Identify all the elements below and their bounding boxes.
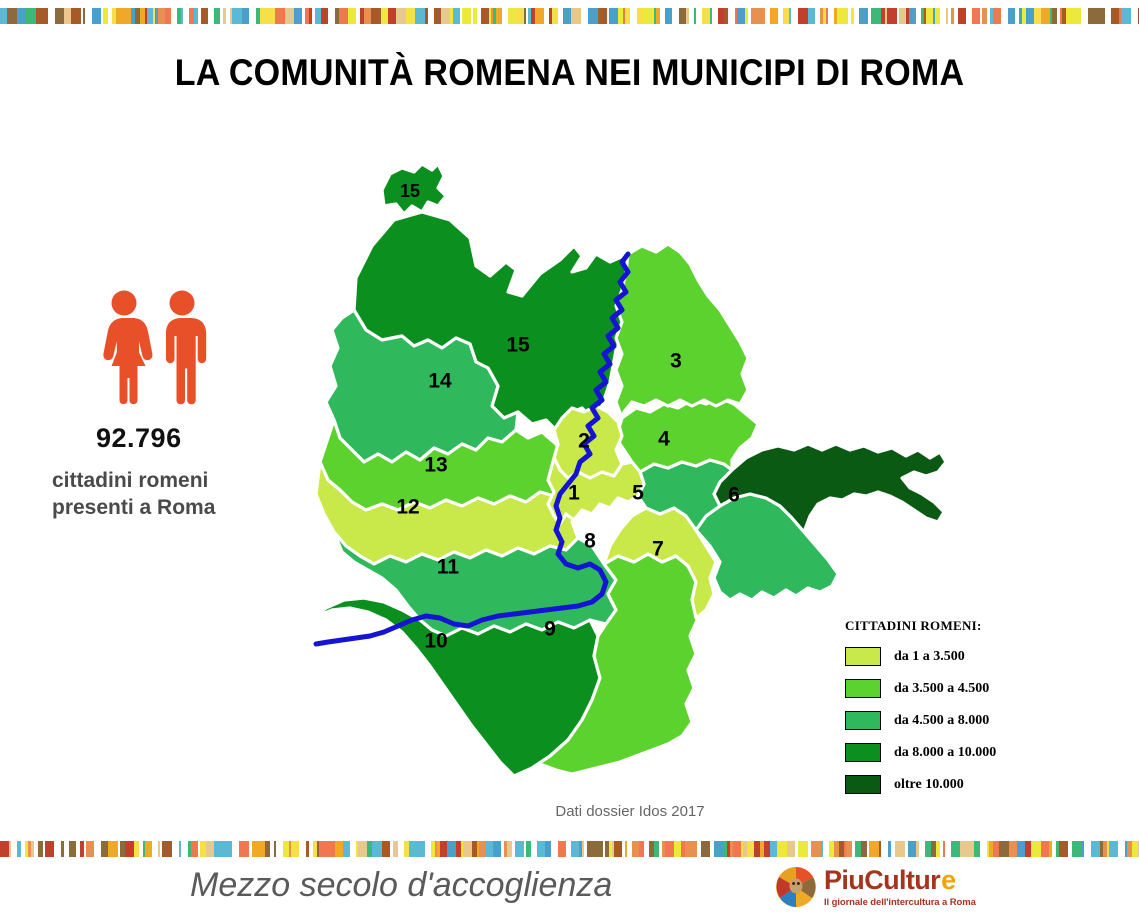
municipality-region-3[interactable] <box>616 244 748 418</box>
municipality-label-10: 10 <box>424 630 447 653</box>
municipality-label-5: 5 <box>632 482 644 505</box>
municipality-region-7[interactable] <box>696 494 838 600</box>
municipality-label-1: 1 <box>568 482 580 505</box>
map-legend: CITTADINI ROMENI: da 1 a 3.500da 3.500 a… <box>845 618 1125 807</box>
people-figures-icon-group <box>98 290 218 405</box>
decorative-stripe-bottom <box>0 841 1139 857</box>
legend-title: CITTADINI ROMENI: <box>845 618 1125 634</box>
female-figure-icon <box>103 291 152 405</box>
legend-swatch-3 <box>845 743 881 762</box>
stripe-pattern-bottom <box>0 841 1139 857</box>
brand-text-block: PiuCulture Il giornale dell'intercultura… <box>824 867 976 908</box>
page-title: LA COMUNITÀ ROMENA NEI MUNICIPI DI ROMA <box>46 52 1094 94</box>
stat-number: 92.796 <box>96 423 302 454</box>
legend-label-2: da 4.500 a 8.000 <box>894 713 989 729</box>
municipality-label-11: 11 <box>437 556 460 579</box>
legend-label-3: da 8.000 a 10.000 <box>894 745 996 761</box>
legend-rows: da 1 a 3.500da 3.500 a 4.500da 4.500 a 8… <box>845 647 1125 794</box>
brand-name-e-glyph: e <box>941 867 955 894</box>
stat-caption-line-2: presenti a Roma <box>52 495 302 522</box>
municipality-label-12: 12 <box>396 496 419 519</box>
legend-item-4[interactable]: oltre 10.000 <box>845 775 1125 794</box>
legend-label-0: da 1 a 3.500 <box>894 649 965 665</box>
source-note: Dati dossier Idos 2017 <box>310 803 950 820</box>
brand-name-main: PiuCultur <box>824 867 940 894</box>
municipality-label-9: 9 <box>544 618 556 641</box>
legend-item-2[interactable]: da 4.500 a 8.000 <box>845 711 1125 730</box>
piuculture-brand[interactable]: PiuCulture Il giornale dell'intercultura… <box>775 866 976 908</box>
legend-swatch-0 <box>845 647 881 666</box>
footer-tagline: Mezzo secolo d'accoglienza <box>190 866 612 905</box>
stripe-pattern-top <box>0 8 1139 24</box>
legend-item-3[interactable]: da 8.000 a 10.000 <box>845 743 1125 762</box>
statistic-panel: 92.796 cittadini romeni presenti a Roma <box>52 290 302 522</box>
stat-caption: cittadini romeni presenti a Roma <box>52 468 302 522</box>
municipality-label-14: 14 <box>428 370 452 393</box>
municipality-label-6: 6 <box>728 484 740 507</box>
municipality-label-4: 4 <box>658 428 670 451</box>
municipality-label-15n: 15 <box>400 181 420 201</box>
legend-item-0[interactable]: da 1 a 3.500 <box>845 647 1125 666</box>
municipality-label-15: 15 <box>506 334 530 357</box>
municipality-region-4[interactable] <box>616 398 758 472</box>
legend-swatch-4 <box>845 775 881 794</box>
legend-label-1: da 3.500 a 4.500 <box>894 681 989 697</box>
brand-tagline: Il giornale dell'intercultura a Roma <box>824 897 976 908</box>
municipality-label-2: 2 <box>578 430 590 453</box>
municipality-label-8: 8 <box>584 530 596 553</box>
municipality-label-13: 13 <box>424 454 447 477</box>
municipality-label-3: 3 <box>670 350 682 373</box>
stat-caption-line-1: cittadini romeni <box>52 468 302 495</box>
legend-label-4: oltre 10.000 <box>894 777 964 793</box>
legend-swatch-1 <box>845 679 881 698</box>
legend-item-1[interactable]: da 3.500 a 4.500 <box>845 679 1125 698</box>
legend-swatch-2 <box>845 711 881 730</box>
decorative-stripe-top <box>0 8 1139 24</box>
male-figure-icon <box>166 291 206 405</box>
piuculture-logo-icon <box>775 866 817 908</box>
municipality-label-7: 7 <box>652 538 664 561</box>
brand-name: PiuCulture <box>824 867 976 894</box>
